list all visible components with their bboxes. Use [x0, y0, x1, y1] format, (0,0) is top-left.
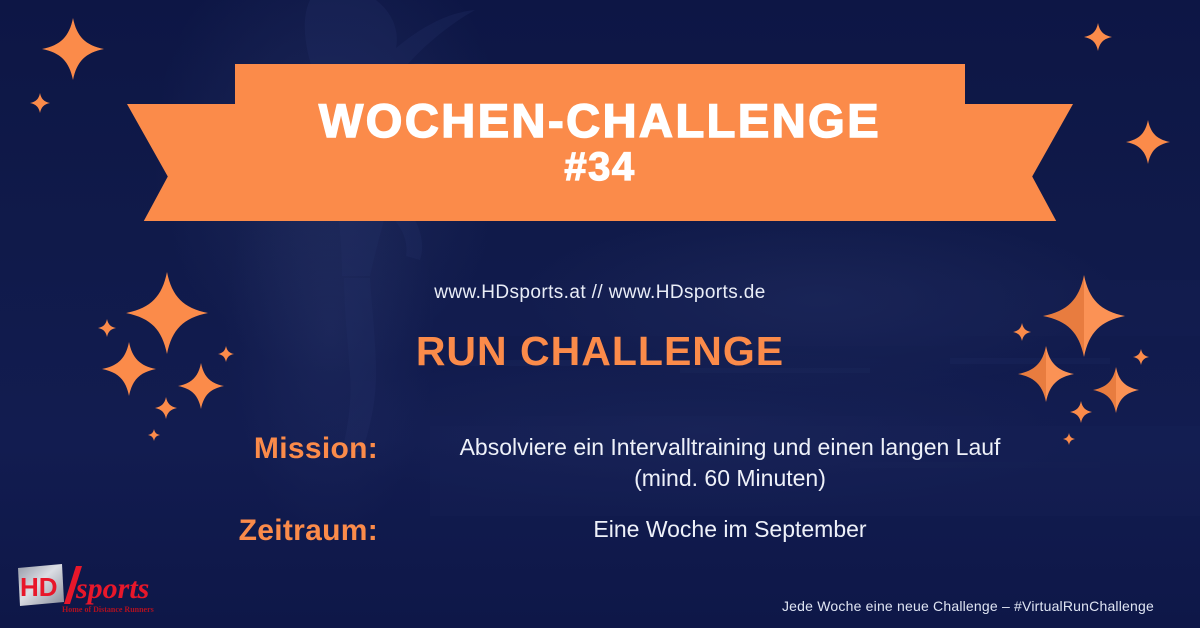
page-title: RUN CHALLENGE [0, 328, 1200, 375]
sparkle-icon [1126, 118, 1170, 166]
footer-tagline: Jede Woche eine neue Challenge – #Virtua… [782, 598, 1154, 614]
mission-value-line1: Absolviere ein Intervalltraining und ein… [460, 434, 1001, 460]
sparkle-icon [1070, 400, 1092, 424]
ribbon-tail-right [965, 104, 1085, 221]
poster-canvas: WOCHEN-CHALLENGE #34 www.HDsports.at // … [0, 0, 1200, 628]
mission-value: Absolviere ein Intervalltraining und ein… [400, 432, 1090, 494]
sparkle-icon [1084, 22, 1112, 52]
mission-value-line2: (mind. 60 Minuten) [400, 463, 1060, 494]
detail-row-period: Zeitraum: Eine Woche im September [150, 514, 1090, 549]
logo-sports: sports [75, 572, 149, 605]
period-value: Eine Woche im September [400, 514, 1090, 545]
ribbon-tail-left [115, 104, 235, 221]
sparkle-icon [30, 92, 50, 114]
challenge-details: Mission: Absolviere ein Intervalltrainin… [150, 432, 1090, 559]
sparkle-icon [155, 396, 177, 420]
period-label: Zeitraum: [150, 514, 400, 549]
logo-hd: HD [20, 572, 58, 602]
challenge-banner: WOCHEN-CHALLENGE #34 [115, 64, 1085, 221]
detail-row-mission: Mission: Absolviere ein Intervalltrainin… [150, 432, 1090, 494]
logo-tagline: Home of Distance Runners [62, 605, 154, 614]
sparkle-icon [42, 16, 104, 82]
banner-number: #34 [564, 146, 635, 188]
period-value-line1: Eine Woche im September [593, 516, 866, 542]
banner-title: WOCHEN-CHALLENGE [319, 97, 881, 144]
ribbon-body: WOCHEN-CHALLENGE #34 [235, 64, 965, 221]
hdsports-logo[interactable]: HD sports Home of Distance Runners [14, 560, 174, 616]
website-urls[interactable]: www.HDsports.at // www.HDsports.de [0, 282, 1200, 304]
mission-label: Mission: [150, 432, 400, 467]
